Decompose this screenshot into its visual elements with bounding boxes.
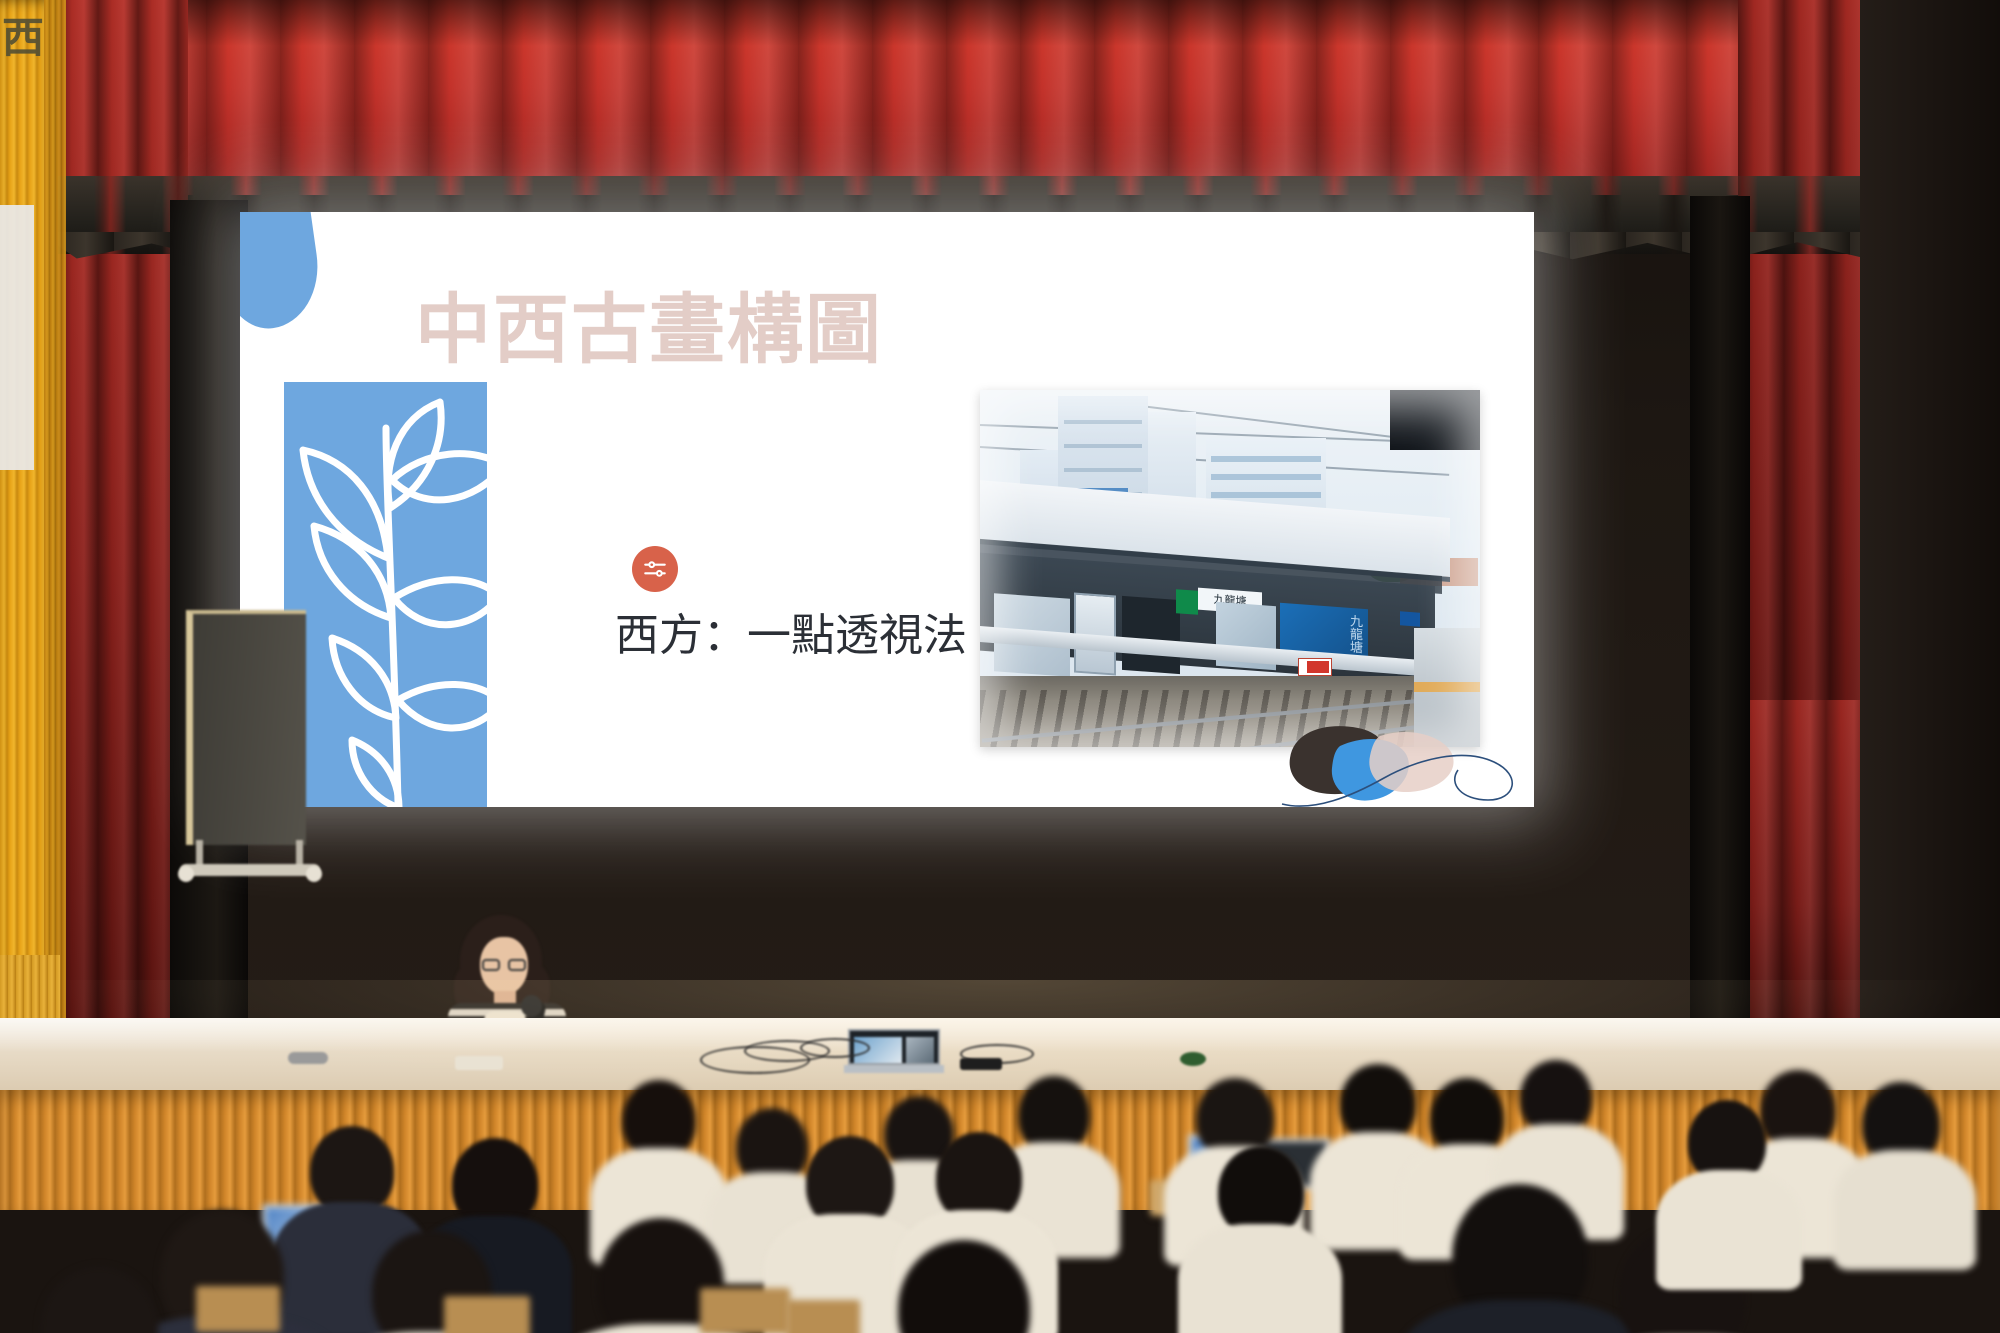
glasses-icon (482, 959, 526, 971)
chair (444, 1296, 530, 1333)
student-audience (0, 1060, 2000, 1333)
stage-curtain-left (58, 0, 188, 1020)
slide-photo-railway-station: 九龍塘 九龍塘 (980, 390, 1480, 747)
side-masking-curtain-right (1690, 196, 1750, 1026)
chair (196, 1286, 280, 1332)
stage-whiteboard (186, 610, 306, 845)
sliders-icon (632, 546, 678, 592)
whiteboard-base (180, 864, 320, 876)
slide-bullet-text: 西方：一點透視法 (615, 612, 967, 660)
wall-panel-left (0, 205, 34, 470)
presentation-photograph: 西 中西古畫構圖 (0, 0, 2000, 1333)
audience-body (1834, 1150, 1976, 1270)
stage-cable-3 (800, 1038, 870, 1058)
presentation-slide: 中西古畫構圖 (240, 212, 1534, 807)
slide-botanical-panel (284, 382, 487, 807)
whiteboard-wheel-right (306, 866, 322, 882)
whiteboard-wheel-left (178, 866, 194, 882)
hall-wall-right (1860, 0, 2000, 1060)
leaf-icon (284, 388, 487, 807)
abstract-blob-decoration (1280, 700, 1530, 807)
chair (786, 1300, 860, 1333)
projection-screen: 中西古畫構圖 (240, 212, 1534, 807)
slide-title: 中西古畫構圖 (415, 292, 883, 368)
pillar-sign-text: 西 (2, 10, 44, 130)
slide-blue-blob-decoration (240, 212, 326, 334)
audience-body (1398, 1300, 1648, 1333)
audience-head (40, 1266, 158, 1333)
audience-body (1178, 1224, 1342, 1333)
curtain-top-shadow (58, 0, 1928, 46)
wood-pillar-left-inner (44, 0, 66, 1070)
audience-body (1656, 1170, 1802, 1290)
chair (700, 1288, 790, 1333)
